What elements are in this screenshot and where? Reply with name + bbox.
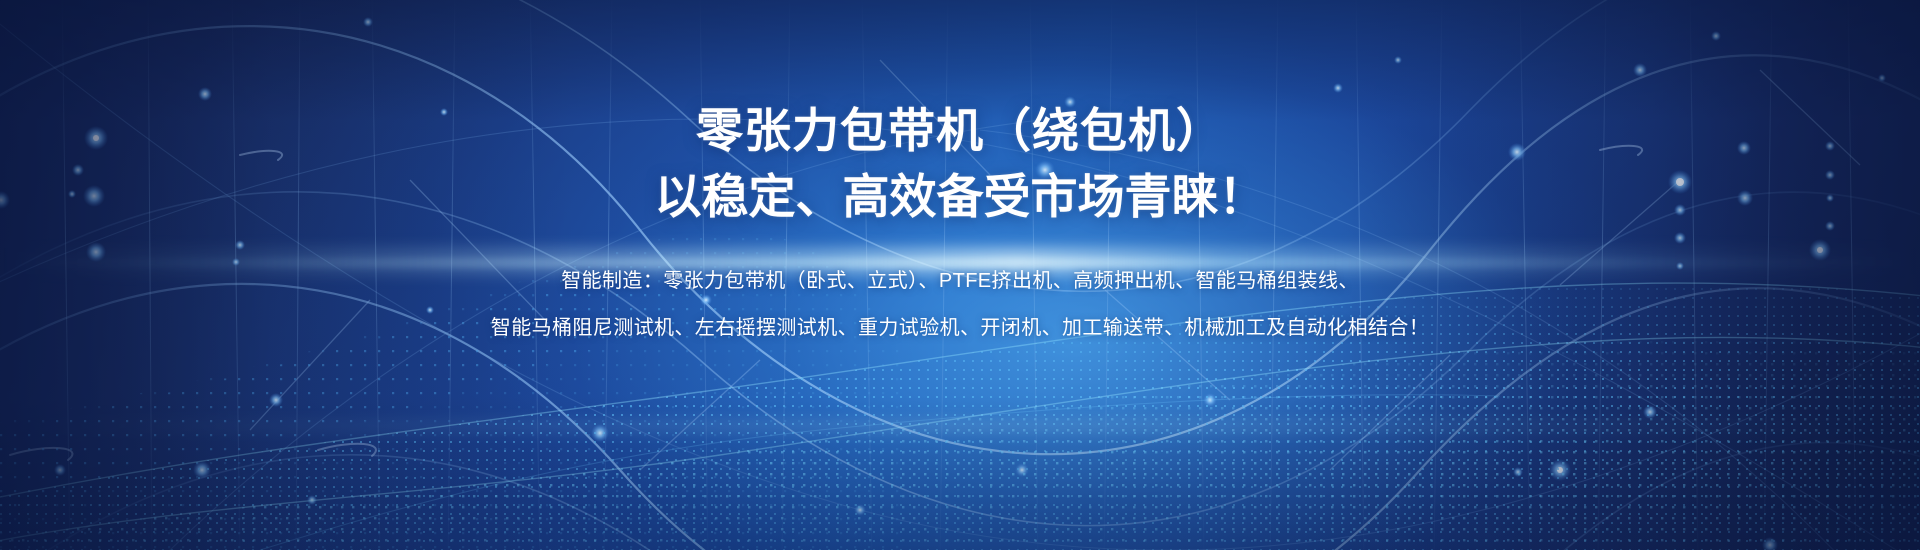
hero-banner: 零张力包带机（绕包机） 以稳定、高效备受市场青睐！ 智能制造：零张力包带机（卧式…: [0, 0, 1920, 550]
headline-line-1: 零张力包带机（绕包机）: [0, 0, 1920, 164]
headline-line-2: 以稳定、高效备受市场青睐！: [0, 164, 1920, 230]
banner-content: 零张力包带机（绕包机） 以稳定、高效备受市场青睐！ 智能制造：零张力包带机（卧式…: [0, 0, 1920, 352]
subtitle-line-1: 智能制造：零张力包带机（卧式、立式）、PTFE挤出机、高频押出机、智能马桶组装线…: [0, 230, 1920, 305]
subtitle-line-2: 智能马桶阻尼测试机、左右摇摆测试机、重力试验机、开闭机、加工输送带、机械加工及自…: [0, 305, 1920, 352]
banner-headline: 零张力包带机（绕包机） 以稳定、高效备受市场青睐！: [0, 0, 1920, 230]
banner-subtitle: 智能制造：零张力包带机（卧式、立式）、PTFE挤出机、高频押出机、智能马桶组装线…: [0, 230, 1920, 352]
